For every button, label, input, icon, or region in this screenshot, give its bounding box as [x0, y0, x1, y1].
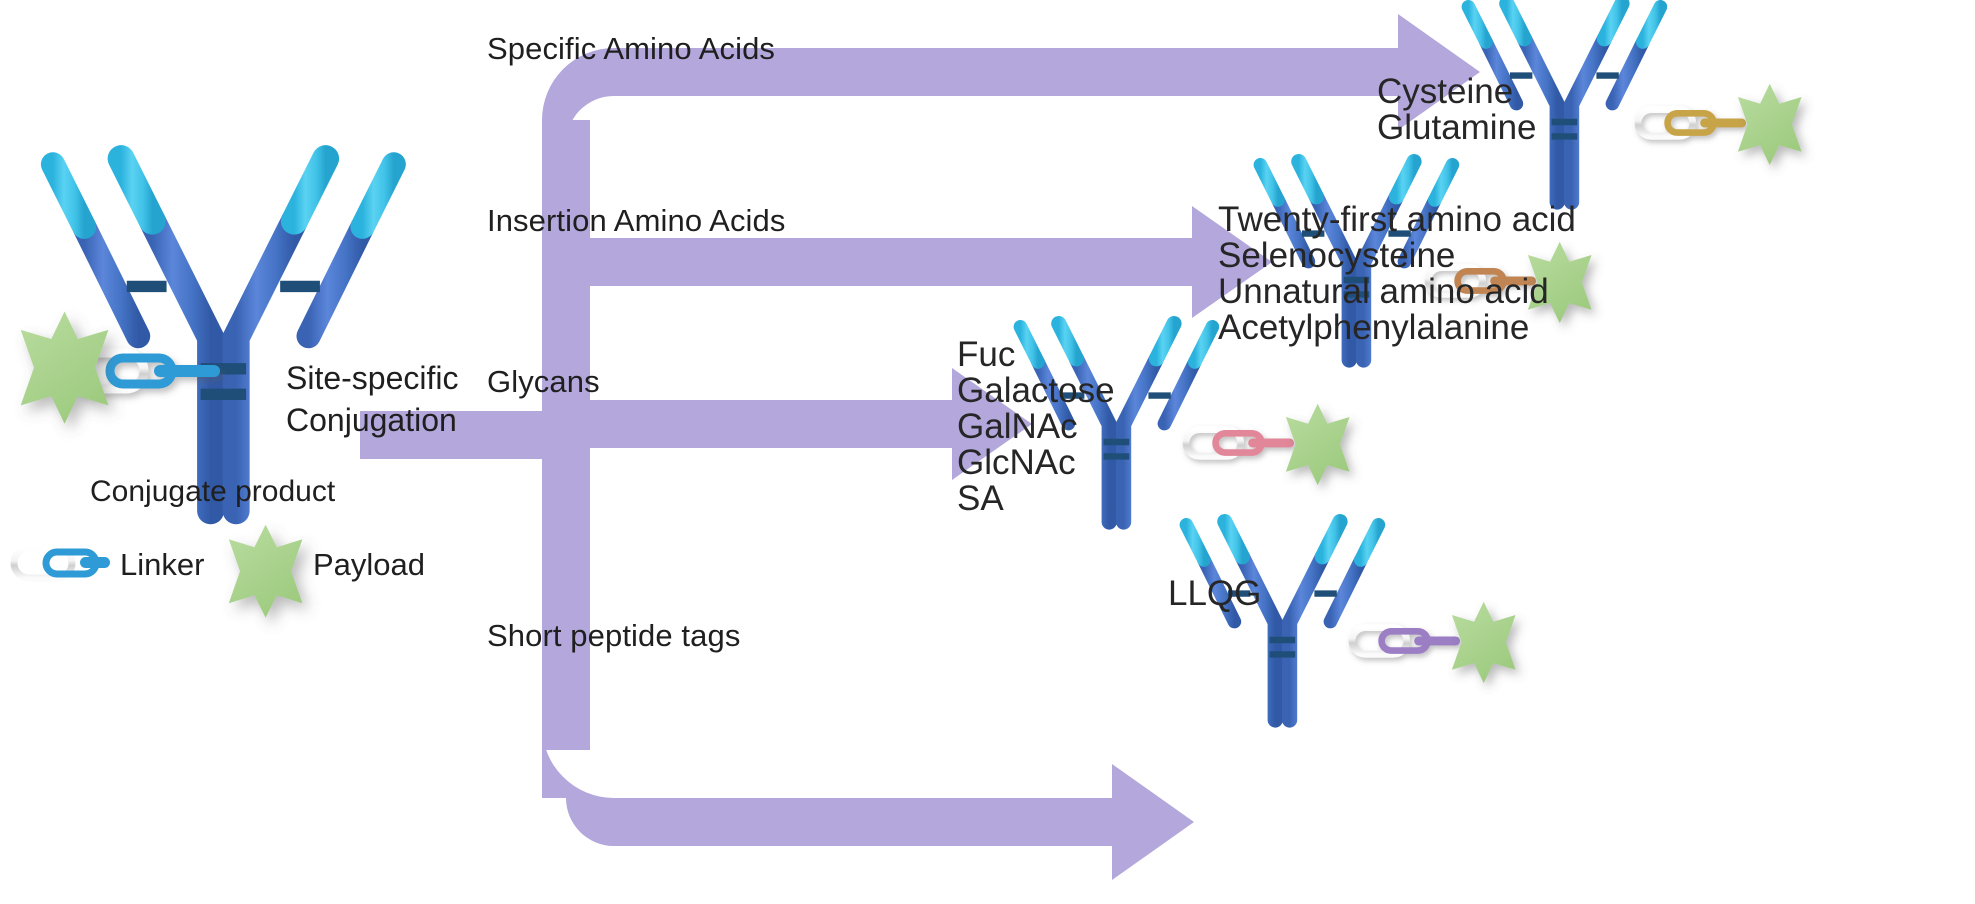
linker-payload-glycans	[1186, 404, 1350, 485]
payload-star	[1452, 602, 1516, 683]
light-chain-right-tip	[363, 164, 394, 226]
light-chain-left-tip	[53, 164, 84, 226]
heavy-chain-right-tip	[1604, 4, 1622, 39]
heavy-chain-left-tip	[121, 159, 152, 221]
linker-payload-specific-amino-acids	[1638, 84, 1802, 165]
light-chain-right-tip	[1435, 165, 1453, 200]
light-chain-right-tip	[1643, 7, 1661, 42]
legend-payload-icon	[229, 525, 303, 618]
diagram-canvas: Specific Amino Acids Insertion Amino Aci…	[0, 0, 1975, 904]
payload-star	[1286, 404, 1350, 485]
light-chain-left-tip	[1468, 7, 1486, 42]
arrow-branch-short-peptide-tags	[542, 726, 1194, 880]
light-chain-left-tip	[1186, 525, 1204, 560]
linker-payload-short-peptide-tags	[1352, 602, 1516, 683]
branch-label-insertion-amino-acids: Insertion Amino Acids	[487, 203, 785, 240]
payload-star	[1738, 84, 1802, 165]
hub-label-line1: Site-specific	[286, 358, 459, 400]
linker-bar	[1248, 439, 1294, 448]
conjugate-product-caption: Conjugate product	[90, 474, 335, 509]
heavy-chain-left-tip	[1225, 522, 1243, 557]
hub-label-line2: Conjugation	[286, 400, 459, 442]
heavy-chain-left-tip	[1299, 162, 1317, 197]
linker-bar	[1414, 637, 1460, 646]
linker-bar	[154, 365, 220, 377]
legend-linker-label: Linker	[120, 547, 204, 584]
legend-linker-bar	[80, 557, 110, 568]
heavy-chain-right-tip	[1396, 162, 1414, 197]
light-chain-right-tip	[1195, 327, 1213, 362]
heavy-chain-right-tip	[1156, 324, 1174, 359]
linker-bar	[1700, 119, 1746, 128]
heavy-chain-left-tip	[1507, 4, 1525, 39]
heavy-chain-right-tip	[294, 159, 325, 221]
light-chain-left-tip	[1260, 165, 1278, 200]
branch-label-specific-amino-acids: Specific Amino Acids	[487, 31, 775, 68]
output-label-acetylphenylalanine: Acetylphenylalanine	[1218, 307, 1529, 348]
hub-label: Site-specific Conjugation	[286, 358, 459, 441]
legend-linker-icon	[14, 548, 110, 578]
heavy-chain-left-tip	[1059, 324, 1077, 359]
antibody-output-short-peptide-tags	[1186, 522, 1378, 720]
light-chain-right-tip	[1361, 525, 1379, 560]
legend-payload-label: Payload	[313, 547, 425, 584]
conjugate-linker-payload	[21, 312, 220, 424]
payload-star	[21, 312, 109, 424]
output-label-llqg: LLQG	[1168, 573, 1261, 614]
branch-label-short-peptide-tags: Short peptide tags	[487, 618, 740, 655]
branch-label-glycans: Glycans	[487, 364, 600, 401]
output-label-glutamine: Glutamine	[1377, 107, 1537, 148]
legend-payload-star	[229, 525, 303, 618]
heavy-chain-right-tip	[1322, 522, 1340, 557]
light-chain-left-tip	[1020, 327, 1038, 362]
output-label-sa: SA	[957, 478, 1004, 519]
